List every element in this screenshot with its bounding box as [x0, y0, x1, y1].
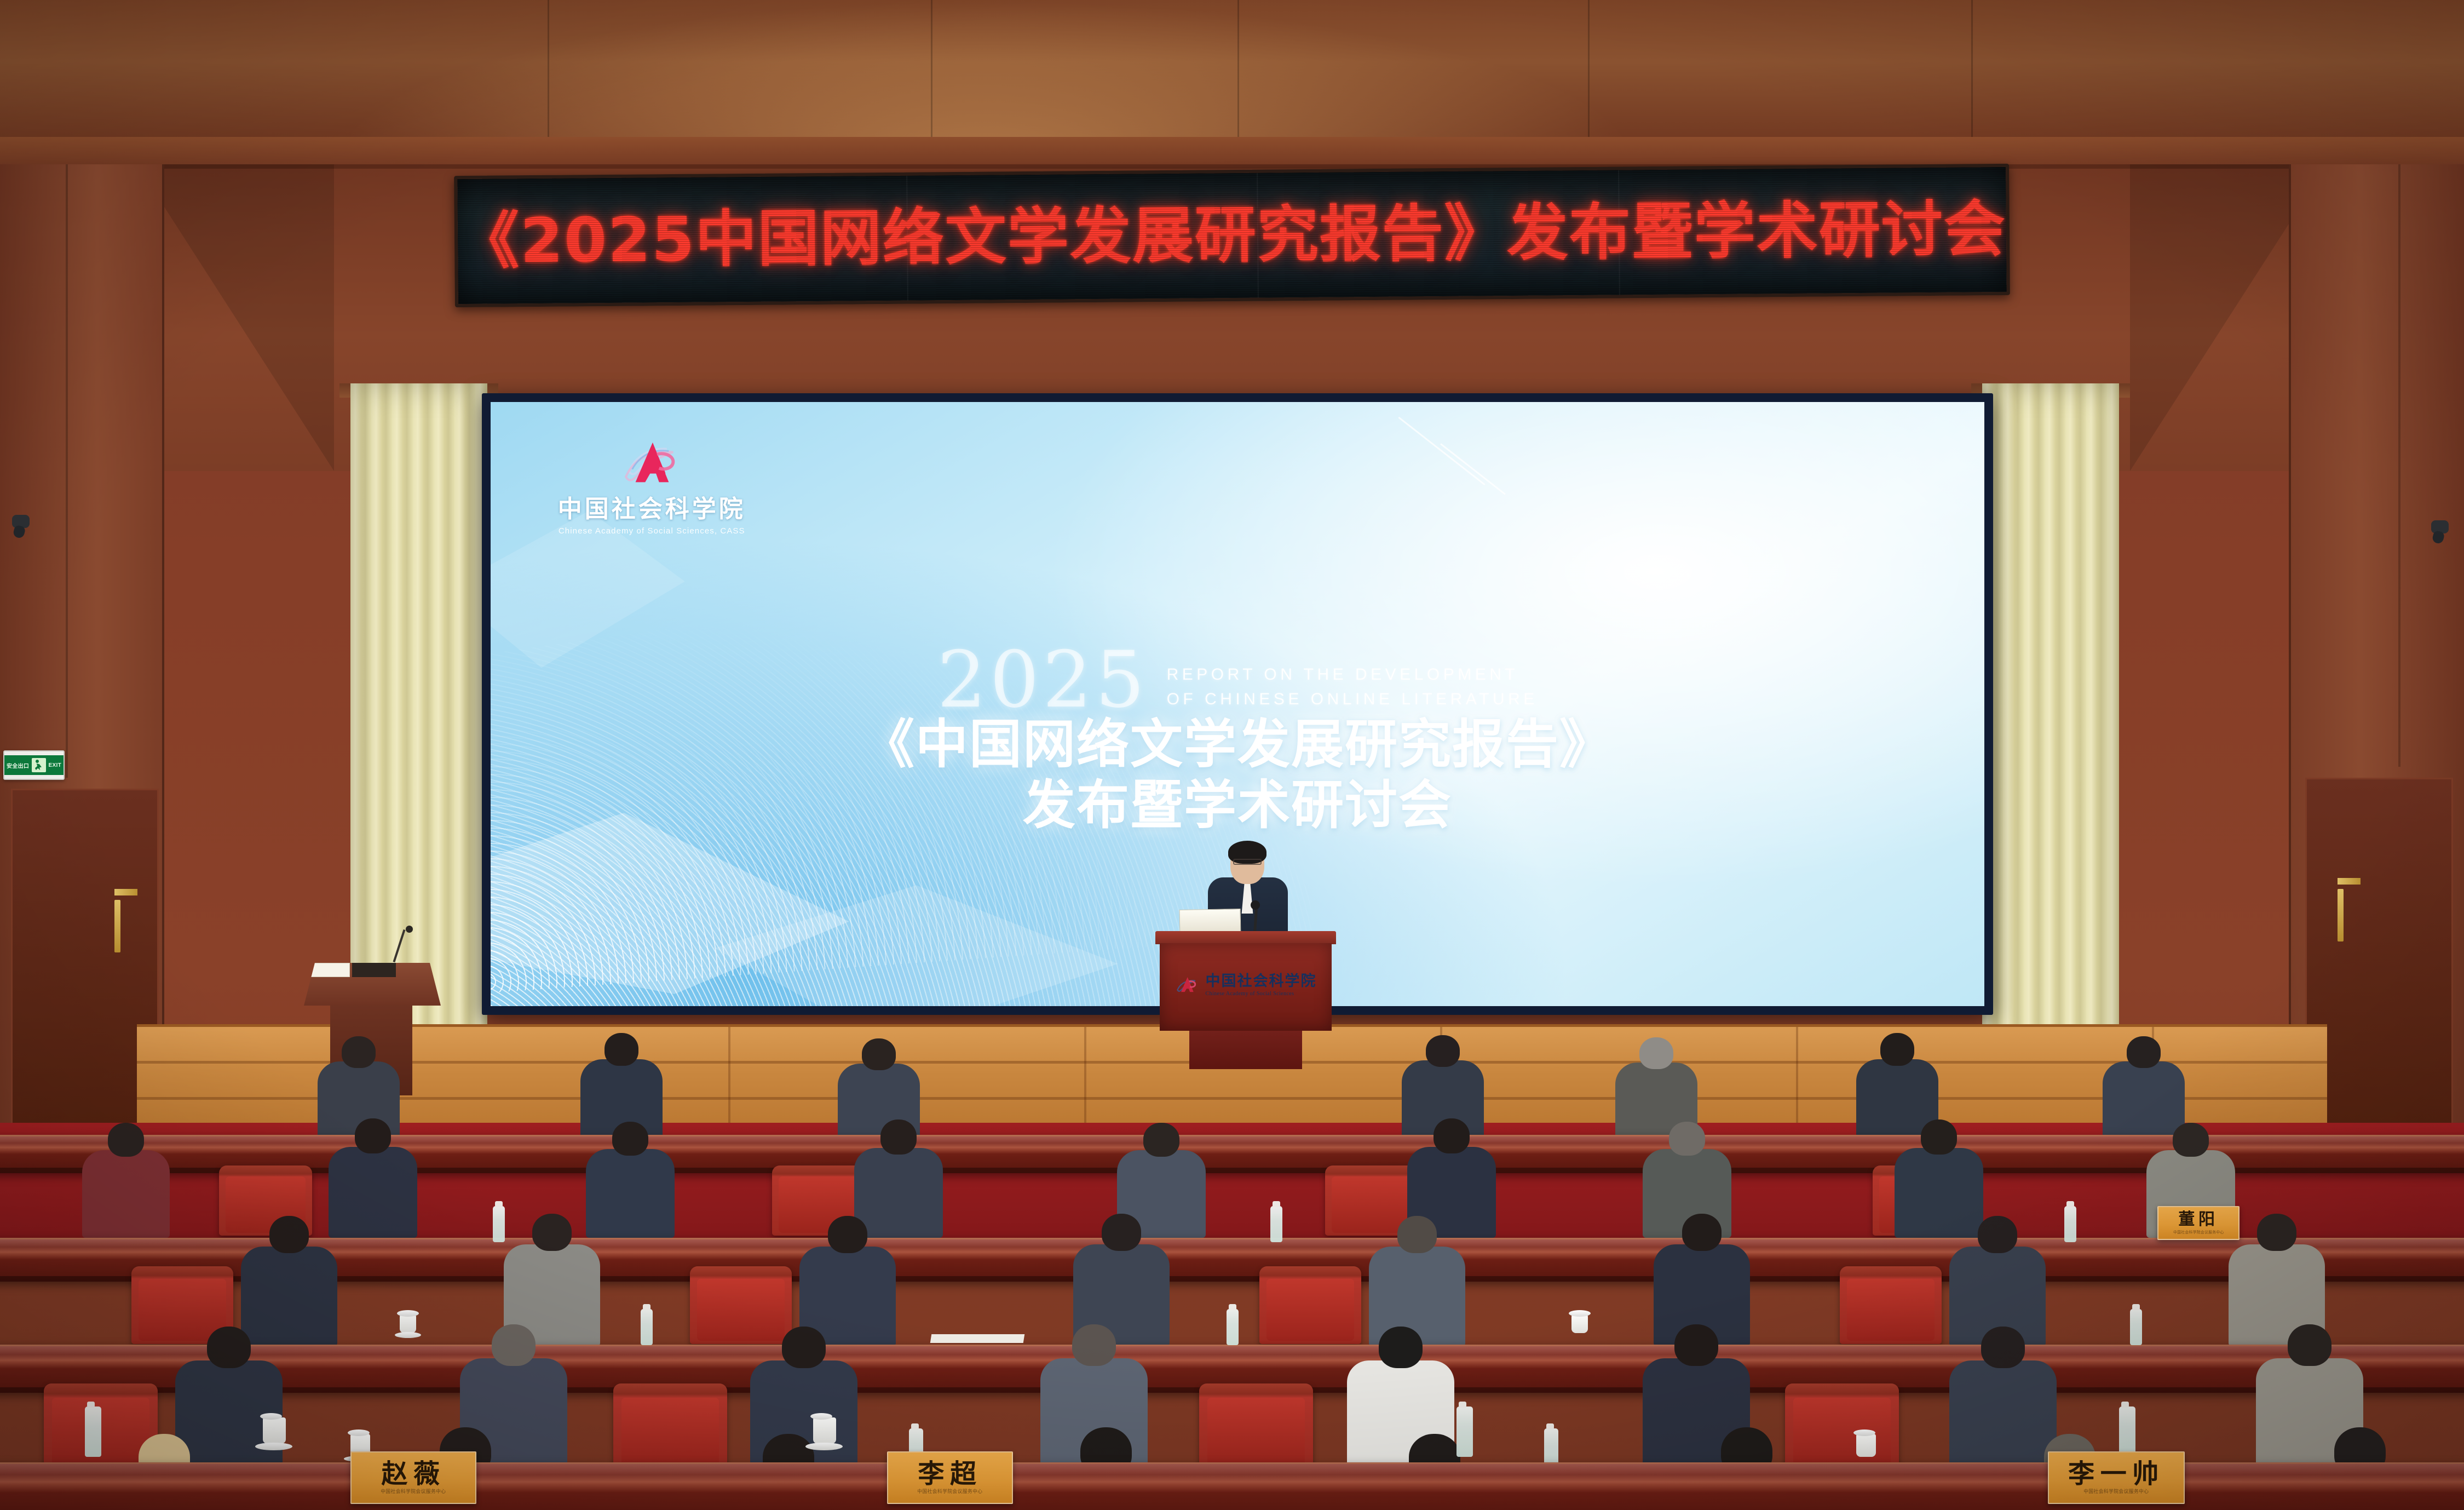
water-bottle	[493, 1206, 505, 1242]
lectern-name-card	[309, 963, 350, 977]
screen-decor-line	[1398, 417, 1485, 485]
audience-member	[1369, 1247, 1465, 1346]
screen-year: 2025	[937, 644, 1148, 717]
led-banner-text: 《2025中国网络文学发展研究报告》发布暨学术研讨会	[458, 199, 2007, 272]
audience-member	[854, 1148, 943, 1238]
ceiling-seam	[548, 0, 549, 137]
door-handle-icon[interactable]	[114, 900, 120, 952]
ceiling-seam	[1588, 0, 1590, 137]
seat[interactable]	[1840, 1266, 1942, 1344]
wall-seam	[66, 164, 68, 778]
tea-cup	[400, 1314, 416, 1333]
audience-member	[82, 1150, 170, 1238]
name-card-org: 中国社会科学院会议服务中心	[2173, 1231, 2224, 1235]
water-bottle	[2064, 1206, 2076, 1242]
name-card-org: 中国社会科学院会议服务中心	[917, 1490, 982, 1495]
glasses-icon	[1233, 859, 1262, 865]
cass-a-mark-icon	[619, 438, 684, 491]
name-card-org: 中国社会科学院会议服务中心	[381, 1490, 446, 1495]
arch-bevel-left	[137, 164, 334, 471]
emergency-exit-sign: 安全出口 EXIT	[3, 750, 65, 780]
screen-english-subtitle: REPORT ON THE DEVELOPMENT OF CHINESE ONL…	[1167, 644, 1538, 711]
running-man-icon	[32, 758, 46, 772]
seat[interactable]	[690, 1266, 792, 1344]
saucer	[805, 1443, 843, 1450]
seat[interactable]	[613, 1383, 727, 1471]
water-bottle	[641, 1309, 653, 1345]
screen-title-line1: 《中国网络文学发展研究报告》	[862, 714, 1613, 775]
saucer	[255, 1443, 292, 1450]
screen-title-line2: 发布暨学术研讨会	[1023, 775, 1452, 836]
name-card-org: 中国社会科学院会议服务中心	[2083, 1490, 2149, 1495]
water-bottle	[1456, 1406, 1473, 1457]
audience-member	[1949, 1360, 2057, 1473]
audience-member	[2103, 1061, 2185, 1139]
door-handle-icon[interactable]	[2338, 889, 2344, 941]
name-card: 李超 中国社会科学院会议服务中心	[887, 1451, 1013, 1504]
security-camera-icon	[12, 515, 30, 540]
name-card-name: 李一帅	[2068, 1461, 2164, 1487]
security-camera-icon	[2431, 520, 2449, 546]
ceiling-light-glow	[329, 0, 1643, 137]
podium-logo-en: Chinese Academy of Social Sciences	[1206, 991, 1317, 997]
seat[interactable]	[1199, 1383, 1313, 1471]
seat[interactable]	[1259, 1266, 1361, 1344]
document-sheet	[930, 1334, 1025, 1343]
podium-name-card	[1179, 909, 1241, 934]
name-card-name: 李超	[918, 1461, 982, 1487]
name-card: 赵薇 中国社会科学院会议服务中心	[350, 1451, 476, 1504]
audience-seating: 董阳 中国社会科学院会议服务中心	[0, 1073, 2464, 1510]
audience-member	[241, 1247, 337, 1346]
conference-hall-photo: 安全出口 EXIT 《2025中国网络文学发展研究报告》发布暨学术研讨会	[0, 0, 2464, 1510]
screen-english-line1: REPORT ON THE DEVELOPMENT	[1167, 662, 1538, 687]
water-bottle	[1227, 1309, 1239, 1345]
tea-cup	[1856, 1434, 1876, 1457]
podium-logo-cn: 中国社会科学院	[1206, 974, 1317, 989]
main-podium: 中国社会科学院 Chinese Academy of Social Scienc…	[1155, 931, 1336, 1071]
exit-sign-en-label: EXIT	[49, 762, 61, 768]
tea-cup	[813, 1417, 836, 1444]
screen-english-line2: OF CHINESE ONLINE LITERATURE	[1167, 687, 1538, 711]
ceiling-seam	[1237, 0, 1239, 137]
saucer	[395, 1332, 421, 1338]
cass-logo: 中国社会科学院 Chinese Academy of Social Scienc…	[558, 438, 746, 535]
audience-member	[329, 1147, 417, 1238]
water-bottle	[2119, 1406, 2135, 1457]
lectern-nameplate	[352, 962, 396, 977]
ceiling-seam	[931, 0, 932, 137]
screen-decor-line	[1440, 443, 1506, 495]
microphone-icon	[406, 926, 413, 933]
ceiling-panels	[0, 0, 2464, 137]
wall-seam	[2398, 164, 2400, 767]
cass-a-mark-icon	[1175, 975, 1199, 995]
microphone-icon	[1251, 900, 1260, 910]
name-card: 董阳 中国社会科学院会议服务中心	[2157, 1206, 2240, 1240]
water-bottle	[2130, 1309, 2142, 1345]
stage-curtain-right	[1982, 383, 2119, 1090]
ceiling-seam	[1971, 0, 1973, 137]
water-bottle	[85, 1406, 101, 1457]
screen-title-block: 2025 REPORT ON THE DEVELOPMENT OF CHINES…	[491, 644, 1984, 836]
tea-cup	[1571, 1314, 1588, 1333]
exit-sign-cn-label: 安全出口	[7, 761, 29, 770]
cass-logo-cn: 中国社会科学院	[558, 496, 746, 523]
water-bottle	[1270, 1206, 1282, 1242]
cass-logo-en: Chinese Academy of Social Sciences, CASS	[559, 526, 745, 536]
seat[interactable]	[1785, 1383, 1899, 1471]
audience-member	[1895, 1148, 1983, 1238]
tea-cup	[263, 1417, 286, 1444]
name-card-name: 董阳	[2178, 1212, 2218, 1228]
led-banner: 《2025中国网络文学发展研究报告》发布暨学术研讨会	[454, 164, 2010, 307]
audience-member	[586, 1149, 675, 1238]
name-card-name: 赵薇	[381, 1461, 445, 1487]
name-card: 李一帅 中国社会科学院会议服务中心	[2048, 1451, 2185, 1504]
